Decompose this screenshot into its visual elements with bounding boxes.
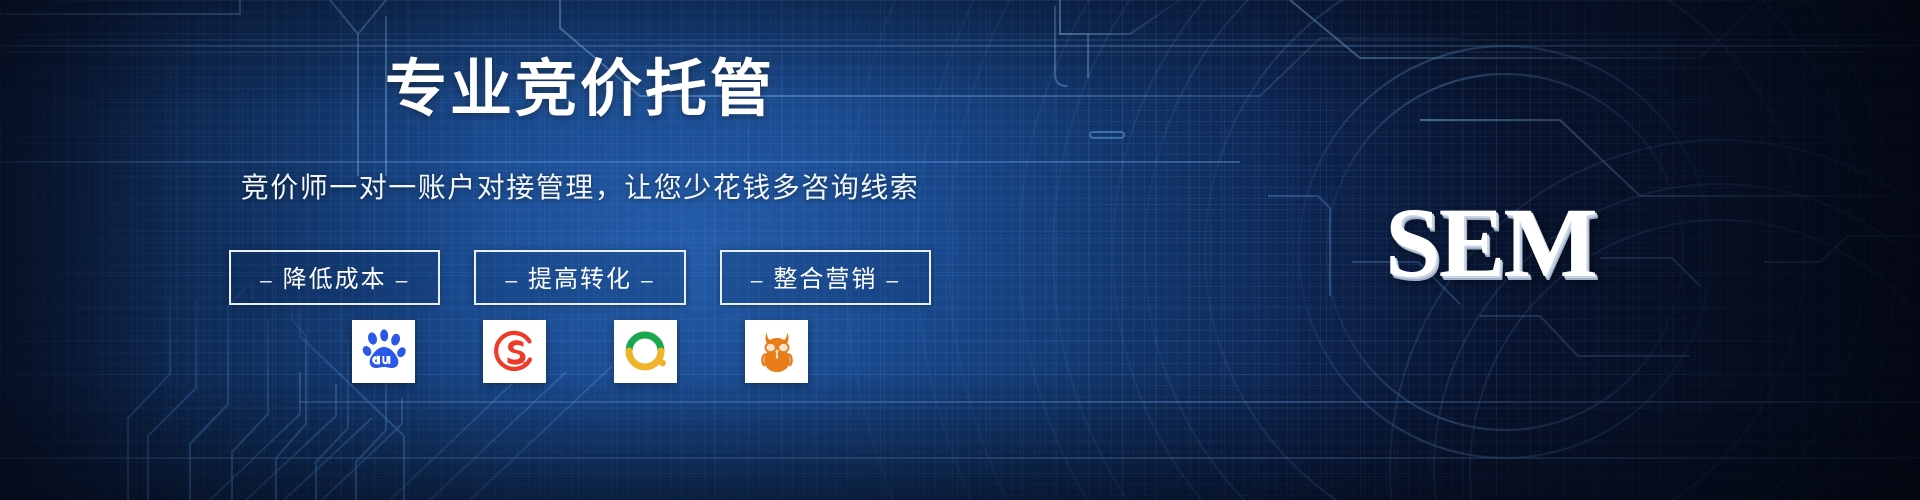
dash-right-icon: – — [387, 269, 419, 292]
platform-logo-list — [0, 320, 1920, 383]
shenma-logo-tile[interactable] — [745, 320, 808, 383]
so360-logo-tile[interactable] — [614, 320, 677, 383]
dash-left-icon: – — [742, 269, 774, 292]
sogou-logo-tile[interactable] — [483, 320, 546, 383]
feature-tag-reduce-cost[interactable]: –降低成本– — [229, 250, 440, 305]
sogou-icon — [491, 328, 539, 376]
feature-tag-label: 降低成本 — [283, 266, 387, 293]
dash-right-icon: – — [632, 269, 664, 292]
feature-tag-improve-conversion[interactable]: –提高转化– — [474, 250, 685, 305]
so360-search-icon — [622, 328, 670, 376]
page-title: 专业竞价托管 — [0, 56, 1920, 124]
dash-left-icon: – — [496, 269, 528, 292]
shenma-icon — [753, 328, 801, 376]
baidu-logo-tile[interactable] — [352, 320, 415, 383]
subtitle: 竞价师一对一账户对接管理，让您少花钱多咨询线索 — [0, 166, 1920, 206]
baidu-icon — [359, 327, 409, 377]
feature-tag-label: 整合营销 — [773, 266, 877, 293]
dash-right-icon: – — [877, 269, 909, 292]
dash-left-icon: – — [251, 269, 283, 292]
feature-tag-integrated-marketing[interactable]: –整合营销– — [720, 250, 931, 305]
sem-hosting-banner: 专业竞价托管 竞价师一对一账户对接管理，让您少花钱多咨询线索 –降低成本– –提… — [0, 0, 1920, 500]
banner-content: 专业竞价托管 竞价师一对一账户对接管理，让您少花钱多咨询线索 –降低成本– –提… — [0, 0, 1920, 500]
feature-tag-label: 提高转化 — [528, 266, 632, 293]
feature-tag-list: –降低成本– –提高转化– –整合营销– — [0, 250, 1920, 305]
sem-brand-logo: SEM — [1385, 185, 1596, 300]
